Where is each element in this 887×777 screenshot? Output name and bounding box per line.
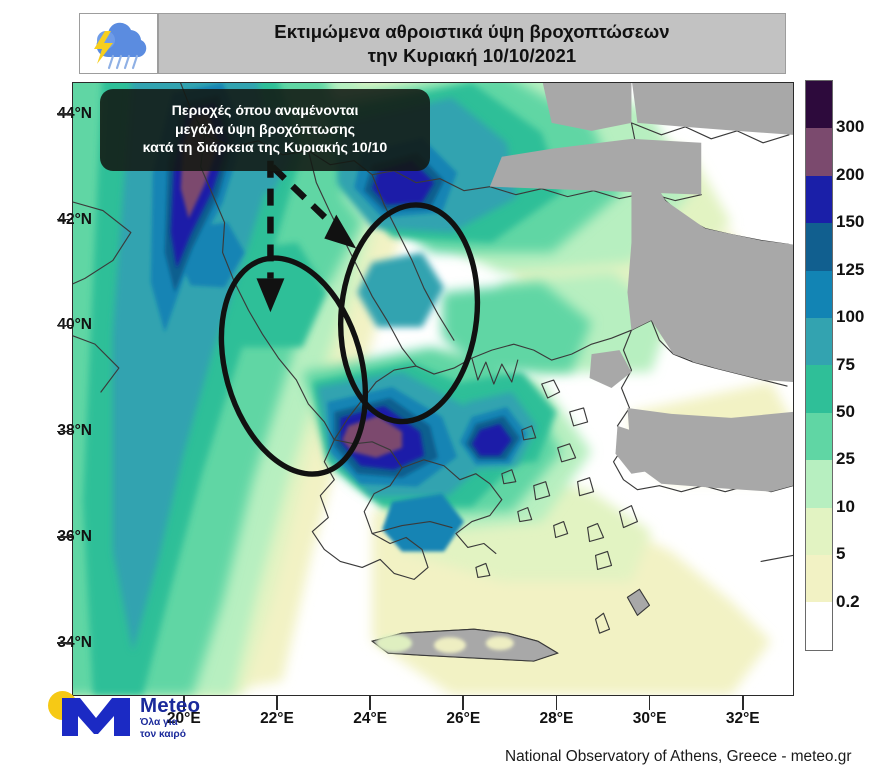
- lon-tick-mark: [742, 696, 744, 710]
- logo-m-icon: [60, 696, 132, 736]
- footer-credit: National Observatory of Athens, Greece -…: [505, 748, 851, 766]
- colorbar-band: [806, 460, 832, 507]
- logo-tagline-line-2: τον καιρό: [140, 729, 186, 741]
- page-title: Εκτιμώμενα αθροιστικά ύψη βροχοπτώσεων τ…: [158, 13, 786, 74]
- colorbar-band: [806, 555, 832, 602]
- lat-tick-mark: [57, 325, 72, 327]
- logo-tagline-line-1: Όλα για: [140, 717, 186, 729]
- lat-tick-mark: [57, 219, 72, 221]
- title-line-1: Εκτιμώμενα αθροιστικά ύψη βροχοπτώσεων: [274, 20, 669, 43]
- colorbar-band: [806, 176, 832, 223]
- lat-tick-mark: [57, 113, 72, 115]
- colorbar-band: [806, 365, 832, 412]
- colorbar-band: [806, 271, 832, 318]
- colorbar-tick-label: 300: [836, 117, 864, 137]
- colorbar-tick-label: 200: [836, 165, 864, 185]
- colorbar-band: [806, 81, 832, 128]
- lon-tick-label: 26°E: [446, 710, 480, 728]
- colorbar-tick-label: 0.2: [836, 592, 860, 612]
- colorbar-tick-label: 75: [836, 355, 855, 375]
- annotation-line-1: Περιοχές όπου αναμένονται: [172, 102, 359, 121]
- logo-tagline: Όλα για τον καιρό: [140, 717, 186, 741]
- precipitation-colorbar: [805, 80, 833, 651]
- annotation-line-2: μεγάλα ύψη βροχόπτωσης: [175, 121, 355, 140]
- logo-wordmark: Meteo: [140, 694, 200, 718]
- colorbar-tick-label: 10: [836, 497, 855, 517]
- precipitation-map: Περιοχές όπου αναμένονται μεγάλα ύψη βρο…: [72, 82, 794, 696]
- weather-map-page: Εκτιμώμενα αθροιστικά ύψη βροχοπτώσεων τ…: [0, 0, 887, 777]
- lon-tick-mark: [649, 696, 651, 710]
- lon-tick-label: 24°E: [353, 710, 387, 728]
- colorbar-band: [806, 413, 832, 460]
- colorbar-band: [806, 508, 832, 555]
- lon-tick-mark: [556, 696, 558, 710]
- colorbar-band: [806, 318, 832, 365]
- lon-tick-mark: [369, 696, 371, 710]
- colorbar-tick-label: 50: [836, 402, 855, 422]
- meteo-logo[interactable]: Meteo Όλα για τον καιρό: [48, 688, 224, 740]
- lon-tick-mark: [462, 696, 464, 710]
- colorbar-tick-label: 25: [836, 449, 855, 469]
- lon-tick-label: 28°E: [540, 710, 574, 728]
- colorbar-tick-label: 5: [836, 544, 845, 564]
- lon-tick-label: 30°E: [633, 710, 667, 728]
- colorbar-band: [806, 128, 832, 175]
- colorbar-band: [806, 602, 832, 649]
- annotation-callout: Περιοχές όπου αναμένονται μεγάλα ύψη βρο…: [100, 89, 430, 171]
- map-canvas: [73, 83, 793, 695]
- colorbar-band: [806, 223, 832, 270]
- colorbar-tick-label: 100: [836, 307, 864, 327]
- colorbar-tick-label: 125: [836, 260, 864, 280]
- annotation-line-3: κατά τη διάρκεια της Κυριακής 10/10: [143, 139, 388, 158]
- thunderstorm-rain-icon: [79, 13, 158, 74]
- lon-tick-mark: [276, 696, 278, 710]
- lon-tick-label: 32°E: [726, 710, 760, 728]
- lat-tick-mark: [57, 642, 72, 644]
- lat-tick-mark: [57, 431, 72, 433]
- lon-tick-label: 22°E: [260, 710, 294, 728]
- title-line-2: την Κυριακή 10/10/2021: [368, 44, 577, 67]
- lat-tick-mark: [57, 536, 72, 538]
- colorbar-tick-label: 150: [836, 212, 864, 232]
